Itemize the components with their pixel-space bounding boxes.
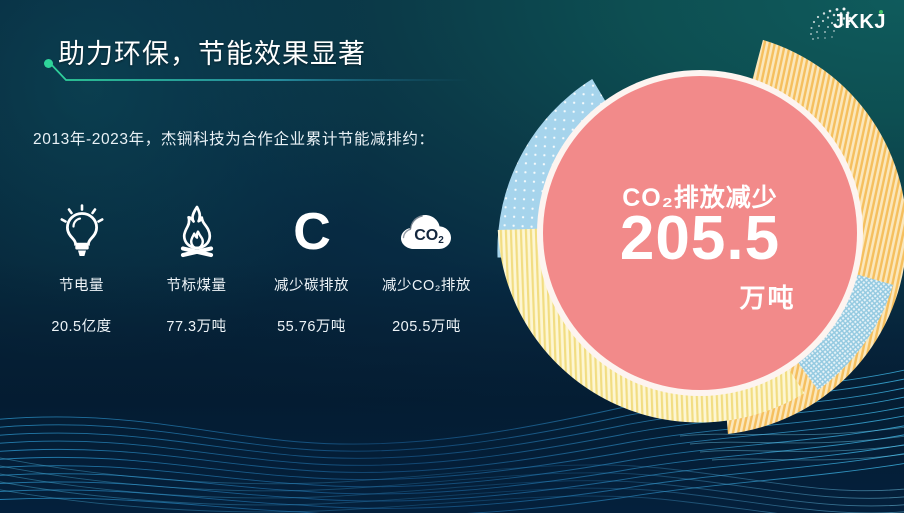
donut-chart: CO₂排放减少 205.5 万吨 [495,28,904,438]
page-title: 助力环保，节能效果显著 [58,32,366,71]
svg-text:C: C [293,204,331,258]
slide-canvas: JKKJ 助力环保，节能效果显著 2013年-2023年，杰锎科技为合作企业累计… [0,0,904,513]
co2-cloud-icon: CO2 [396,200,458,262]
stat-value: 55.76万吨 [277,315,346,336]
stats-row: 节电量 20.5亿度 节标煤量 77.3万吨 C 减少碳排放 [24,200,484,336]
lightbulb-icon [59,200,105,262]
intro-paragraph: 2013年-2023年，杰锎科技为合作企业累计节能减排约： [33,126,483,154]
stat-value: 205.5万吨 [392,315,461,336]
donut-center-disc [543,76,857,390]
title-accent-dot [44,59,53,68]
stat-label: 节电量 [59,274,104,295]
campfire-icon [173,200,221,262]
carbon-c-icon: C [288,200,336,262]
stat-label: 减少碳排放 [274,274,349,295]
stat-label: 减少CO₂排放 [382,274,471,295]
stat-item-electricity: 节电量 20.5亿度 [24,200,139,336]
stat-item-carbon: C 减少碳排放 55.76万吨 [254,200,369,336]
logo-accent-dot [879,10,883,14]
stat-item-coal: 节标煤量 77.3万吨 [139,200,254,336]
stat-value: 77.3万吨 [166,315,226,336]
stat-item-co2: CO2 减少CO₂排放 205.5万吨 [369,200,484,336]
stat-label: 节标煤量 [167,274,227,295]
stat-value: 20.5亿度 [51,315,111,336]
